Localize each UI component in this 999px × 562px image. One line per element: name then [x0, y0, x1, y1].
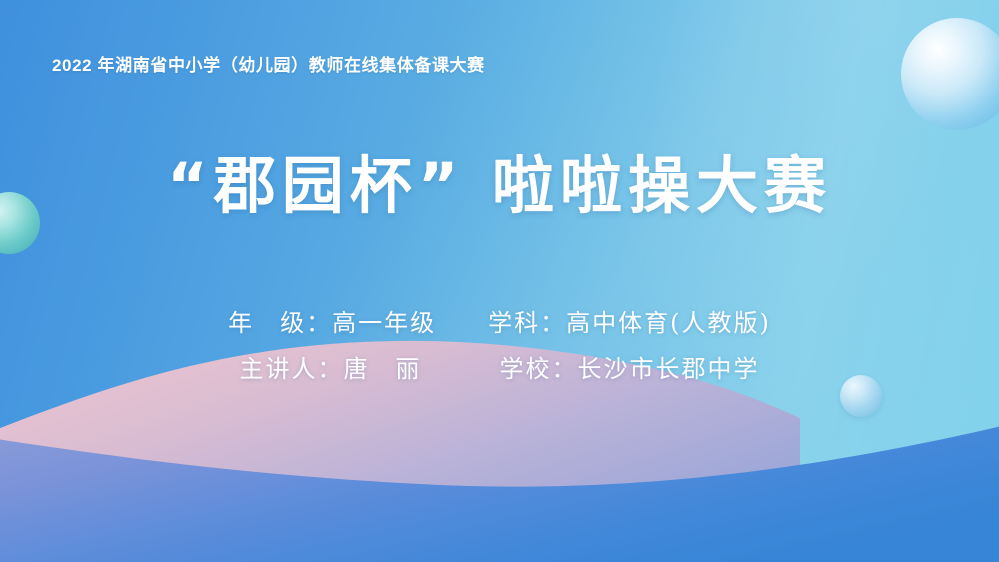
meta-line-speaker-school: 主讲人：唐 丽 学校：长沙市长郡中学 [0, 346, 999, 392]
background-sheen-right [400, 0, 999, 562]
page-title: “郡园杯” 啦啦操大赛 [0, 140, 999, 232]
slide-meta-block: 年 级：高一年级 学科：高中体育(人教版) 主讲人：唐 丽 学校：长沙市长郡中学 [0, 300, 999, 392]
wave-blue-band [0, 424, 999, 562]
presentation-title-slide: 2022 年湖南省中小学（幼儿园）教师在线集体备课大赛 “郡园杯” 啦啦操大赛 … [0, 0, 999, 562]
meta-line-grade-subject: 年 级：高一年级 学科：高中体育(人教版) [0, 300, 999, 346]
sphere-decoration-top-right [901, 18, 999, 130]
competition-header: 2022 年湖南省中小学（幼儿园）教师在线集体备课大赛 [52, 54, 485, 78]
